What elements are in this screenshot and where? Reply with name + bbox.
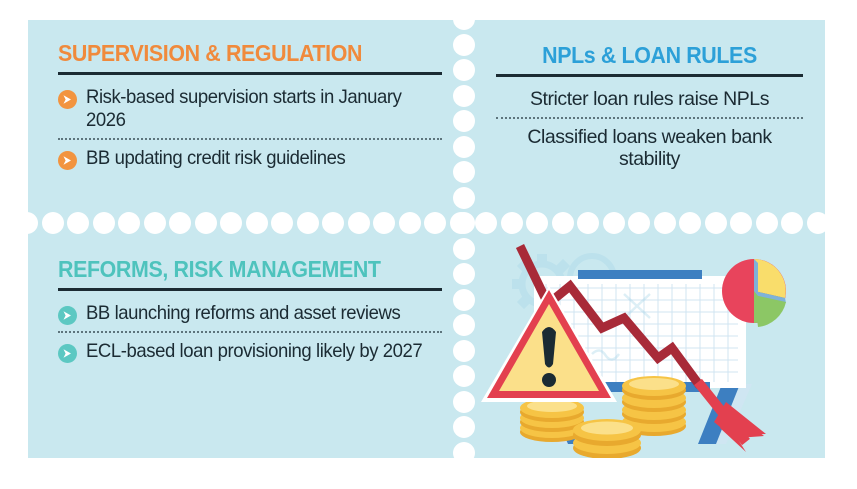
- heading-rule: [58, 288, 442, 291]
- list-item: ECL-based loan provisioning likely by 20…: [58, 335, 442, 367]
- list-item: BB updating credit risk guidelines: [58, 142, 442, 174]
- reforms-bullet-list: BB launching reforms and asset reviews E…: [58, 297, 442, 367]
- heading-rule: [496, 74, 803, 77]
- chevron-right-circle-icon: [58, 306, 77, 325]
- infographic-board: SUPERVISION & REGULATION Risk-based supe…: [28, 20, 825, 458]
- list-item-label: BB updating credit risk guidelines: [86, 147, 345, 170]
- list-item: BB launching reforms and asset reviews: [58, 297, 442, 329]
- divider-dot: [453, 467, 475, 489]
- panel-supervision-heading: SUPERVISION & REGULATION: [58, 42, 415, 65]
- panel-supervision-regulation: SUPERVISION & REGULATION Risk-based supe…: [28, 20, 460, 222]
- npls-list: Stricter loan rules raise NPLs Classifie…: [496, 83, 803, 175]
- list-divider: [58, 138, 442, 140]
- divider-dot: [832, 212, 854, 234]
- chevron-right-circle-icon: [58, 344, 77, 363]
- list-item-label: BB launching reforms and asset reviews: [86, 302, 400, 325]
- list-divider: [58, 331, 442, 333]
- heading-rule: [58, 72, 442, 75]
- panel-reforms-heading: REFORMS, RISK MANAGEMENT: [58, 258, 415, 281]
- supervision-bullet-list: Risk-based supervision starts in January…: [58, 81, 442, 174]
- chevron-right-circle-icon: [58, 151, 77, 170]
- list-item-label: ECL-based loan provisioning likely by 20…: [86, 340, 422, 363]
- list-item-label: Risk-based supervision starts in January…: [86, 86, 424, 132]
- panel-npls-loan-rules: NPLs & LOAN RULES Stricter loan rules ra…: [474, 20, 825, 222]
- list-item: Stricter loan rules raise NPLs: [496, 83, 803, 115]
- list-divider: [496, 117, 803, 119]
- chevron-right-circle-icon: [58, 90, 77, 109]
- panel-illustration: [474, 236, 825, 458]
- panel-npls-heading: NPLs & LOAN RULES: [507, 44, 793, 67]
- declining-financial-chart-illustration: [474, 236, 825, 458]
- infographic-root: SUPERVISION & REGULATION Risk-based supe…: [0, 0, 857, 482]
- list-item: Classified loans weaken bank stability: [496, 121, 803, 175]
- list-item: Risk-based supervision starts in January…: [58, 81, 442, 136]
- easel-top-bar: [578, 270, 702, 279]
- panel-reforms-risk-management: REFORMS, RISK MANAGEMENT BB launching re…: [28, 236, 460, 458]
